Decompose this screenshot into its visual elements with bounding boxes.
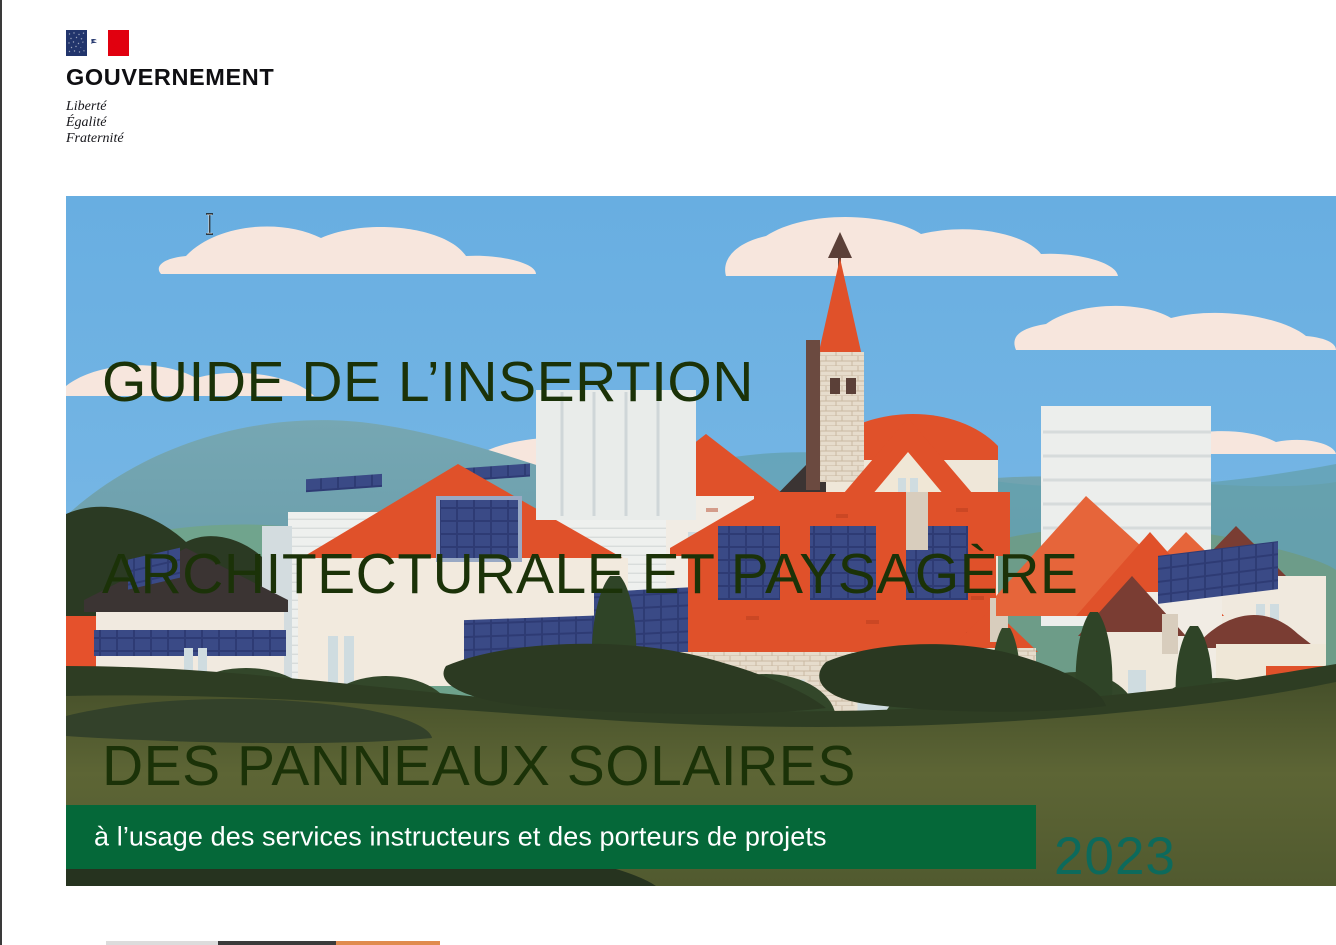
chrome-segment-2 bbox=[218, 941, 336, 945]
government-logo-block: GOUVERNEMENT Liberté Égalité Fraternité bbox=[66, 30, 326, 147]
republic-motto: Liberté Égalité Fraternité bbox=[66, 99, 326, 147]
motto-line-liberte: Liberté bbox=[66, 99, 326, 115]
motto-line-egalite: Égalité bbox=[66, 115, 326, 131]
chrome-segment-3 bbox=[336, 941, 440, 945]
government-wordmark: GOUVERNEMENT bbox=[66, 66, 326, 90]
browser-chrome-sliver bbox=[2, 941, 1336, 945]
french-republic-flag-marianne-icon bbox=[66, 30, 326, 56]
motto-line-fraternite: Fraternité bbox=[66, 131, 326, 147]
subtitle-text: à l’usage des services instructeurs et d… bbox=[94, 822, 827, 853]
year-label: 2023 bbox=[1054, 826, 1176, 887]
document-page: GOUVERNEMENT Liberté Égalité Fraternité bbox=[0, 0, 1336, 945]
chrome-segment-1 bbox=[106, 941, 218, 945]
village-with-solar-panels-illustration bbox=[66, 196, 1336, 886]
subtitle-banner: à l’usage des services instructeurs et d… bbox=[66, 805, 1036, 869]
